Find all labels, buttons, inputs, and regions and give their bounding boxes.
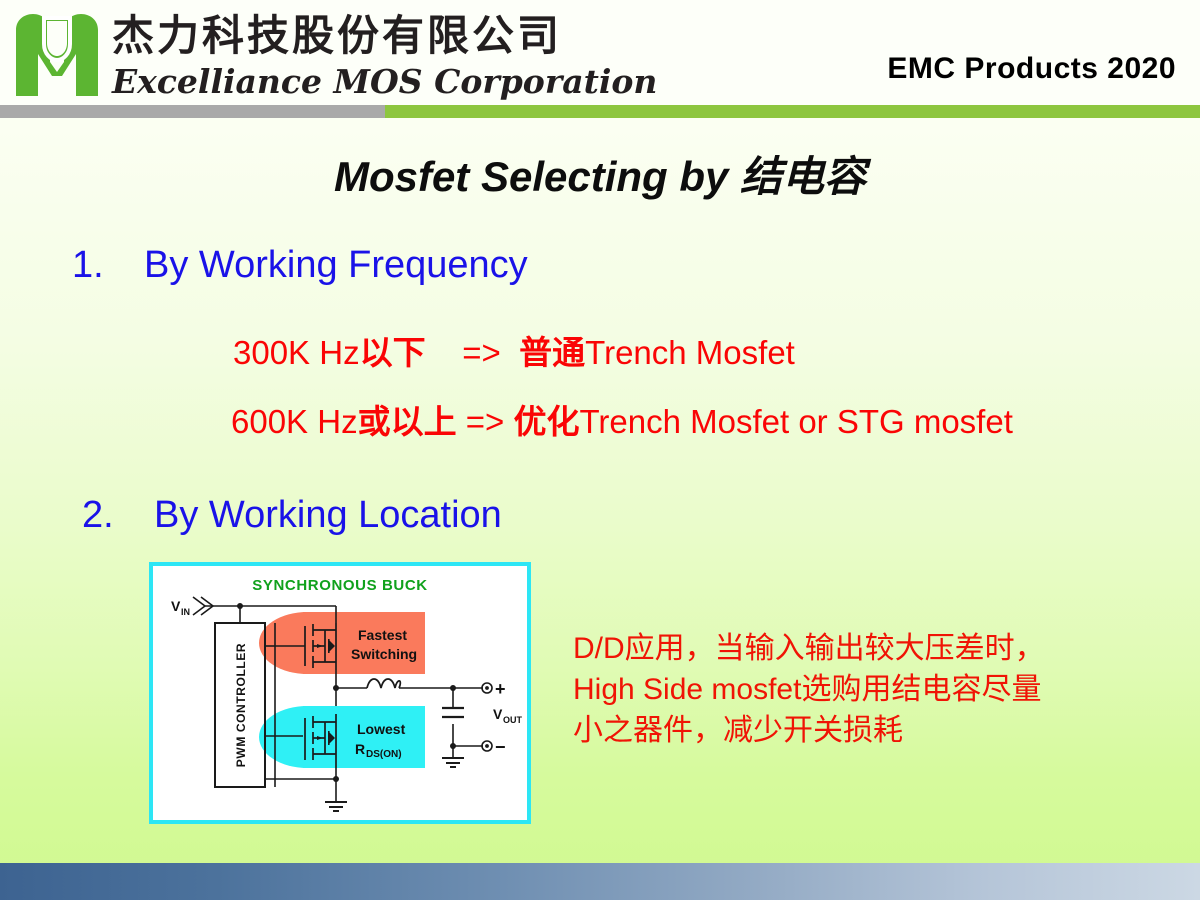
rule-600k-condition-cn: 或以上: [358, 403, 457, 440]
high-side-label-1: Fastest: [358, 627, 407, 643]
list-item-number: 2.: [82, 494, 154, 537]
list-item-working-location: 2.By Working Location: [82, 494, 502, 537]
slide-footer-bar: [0, 863, 1200, 900]
capacitor-symbol: [442, 708, 464, 717]
low-side-label-1: Lowest: [357, 721, 406, 737]
side-note: D/D应用，当输入输出较大压差时， High Side mosfet选购用结电容…: [573, 628, 1045, 751]
header-divider-gray: [0, 105, 385, 118]
rule-600k-result-cn: 优化: [513, 403, 579, 440]
inductor-symbol: [367, 679, 400, 688]
synchronous-buck-circuit-figure: SYNCHRONOUS BUCK: [149, 562, 531, 824]
rule-600k: 600K Hz或以上 => 优化Trench Mosfet or STG mos…: [231, 395, 1013, 443]
list-item-label: By Working Location: [154, 494, 502, 536]
rule-300k: 300K Hz以下 => 普通Trench Mosfet: [233, 326, 795, 374]
low-side-label-sub: DS(ON): [366, 749, 402, 760]
rule-600k-arrow: =>: [466, 403, 505, 440]
pwm-controller-label: PWM CONTROLLER: [234, 643, 248, 767]
company-name-block: 杰力科技股份有限公司 Excelliance MOS Corporation: [112, 12, 657, 102]
page-title-en: Mosfet Selecting by: [334, 153, 740, 200]
side-note-line: D/D应用，当输入输出较大压差时，: [573, 628, 1045, 669]
rule-300k-result-en: Trench Mosfet: [585, 334, 795, 371]
rule-300k-condition: 300K Hz: [233, 334, 360, 371]
high-side-label-2: Switching: [351, 646, 417, 662]
vin-label: V: [171, 598, 181, 614]
side-note-line: 小之器件，减少开关损耗: [573, 710, 1045, 751]
circuit-schematic: V IN + − V OUT PWM CONTROLLER Fastest Sw…: [153, 566, 527, 820]
list-item-number: 1.: [72, 244, 144, 287]
rule-300k-arrow: =>: [462, 334, 501, 371]
low-side-label-2: R: [355, 741, 365, 757]
side-note-line: High Side mosfet选购用结电容尽量: [573, 669, 1045, 710]
company-name-cn: 杰力科技股份有限公司: [112, 12, 657, 60]
list-item-label: By Working Frequency: [144, 244, 528, 286]
rule-600k-condition: 600K Hz: [231, 403, 358, 440]
vout-label: V: [493, 706, 503, 722]
vout-sub-label: OUT: [503, 715, 523, 725]
high-side-highlight: [259, 612, 425, 674]
header-divider-green: [385, 105, 1200, 118]
output-minus-label: −: [495, 737, 506, 757]
rule-600k-result-en: Trench Mosfet or STG mosfet: [579, 403, 1012, 440]
slide-header: 杰力科技股份有限公司 Excelliance MOS Corporation E…: [0, 0, 1200, 110]
output-terminals: [482, 683, 492, 751]
vin-sub-label: IN: [181, 607, 190, 617]
output-plus-label: +: [495, 679, 506, 699]
rule-300k-result-cn: 普通: [519, 334, 585, 371]
list-item-working-frequency: 1.By Working Frequency: [72, 244, 528, 287]
header-product-title: EMC Products 2020: [887, 52, 1176, 86]
company-name-en: Excelliance MOS Corporation: [112, 62, 657, 102]
rule-300k-condition-cn: 以下: [360, 334, 426, 371]
page-title: Mosfet Selecting by 结电容: [0, 143, 1200, 204]
page-title-cn: 结电容: [740, 152, 866, 201]
excelliance-m-logo-icon: [12, 10, 102, 102]
